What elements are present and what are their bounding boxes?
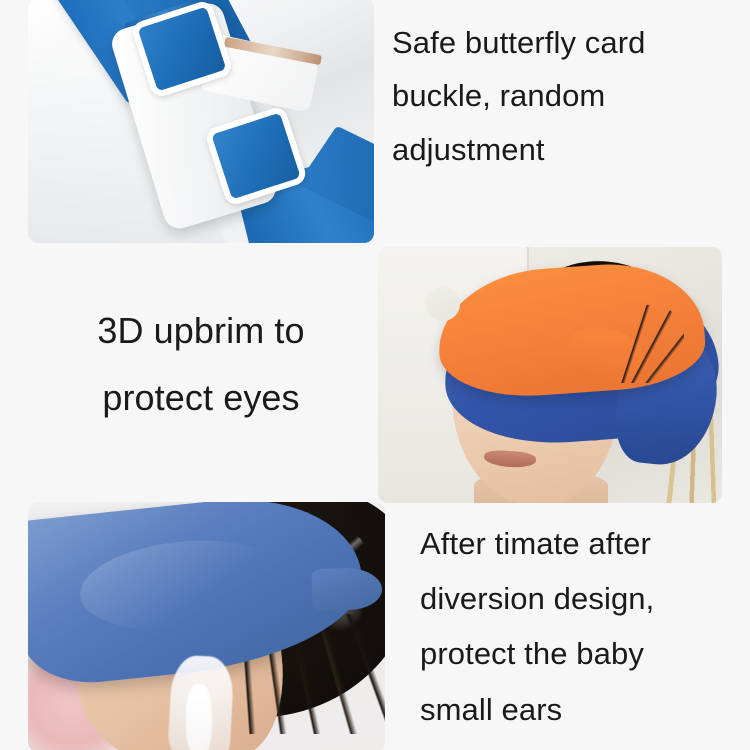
- caption-safe-butterfly-buckle: Safe butterfly card buckle, random adjus…: [392, 16, 732, 176]
- caption-protect-small-ears: After timate after diversion design, pro…: [420, 516, 740, 737]
- water-stream-highlight: [186, 684, 212, 750]
- photo-rinsing-head[interactable]: [28, 502, 385, 750]
- photo-boy-wearing-cap[interactable]: [378, 247, 722, 503]
- cap-orange-brim-notch: [426, 287, 460, 321]
- caption-3d-upbrim: 3D upbrim to protect eyes: [26, 298, 376, 431]
- photo-buckle-closeup[interactable]: [28, 0, 374, 243]
- product-feature-collage: Safe butterfly card buckle, random adjus…: [0, 0, 750, 750]
- boy-hair-strands: [604, 305, 684, 383]
